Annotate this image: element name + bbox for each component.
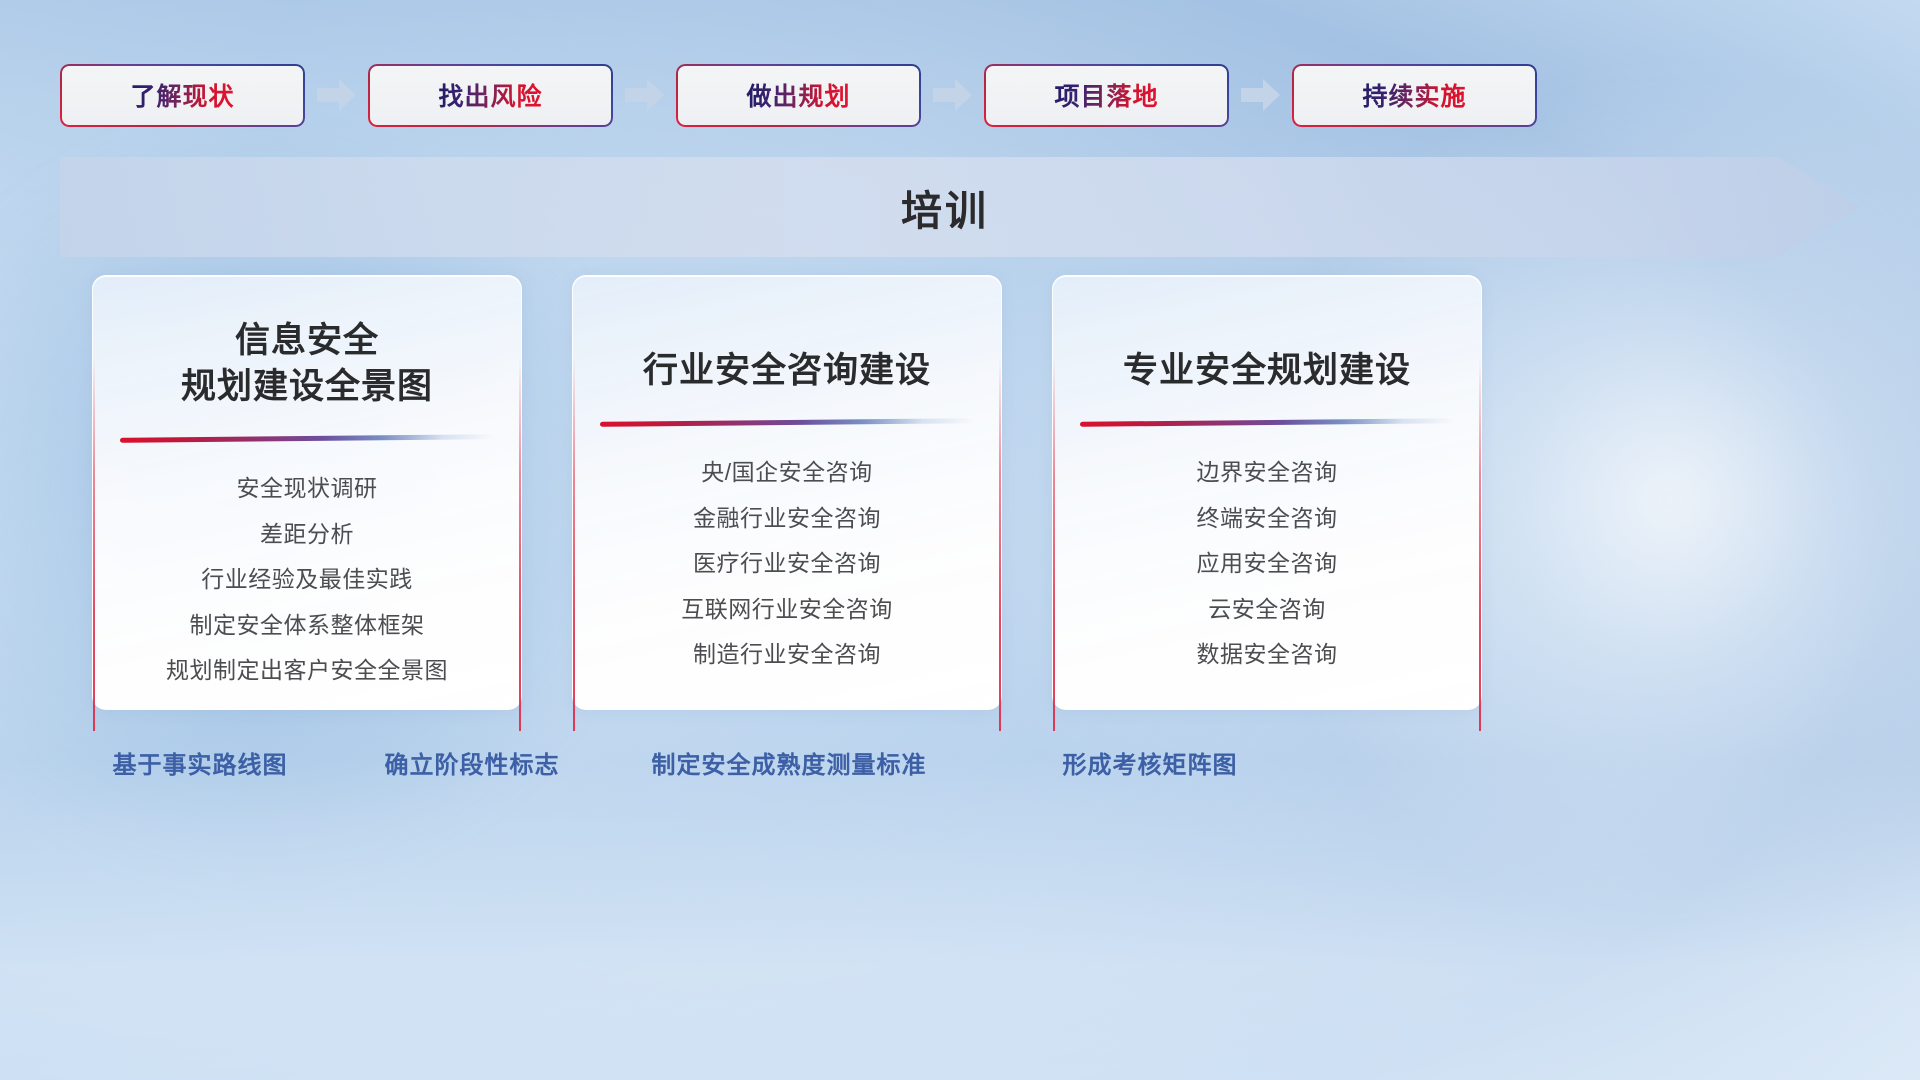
step-box-1[interactable]: 了解现状 <box>60 64 305 127</box>
footer-label-3: 制定安全成熟度测量标准 <box>652 745 927 780</box>
list-item: 数据安全咨询 <box>1197 637 1338 672</box>
list-item: 云安全咨询 <box>1208 592 1326 627</box>
list-item: 医疗行业安全咨询 <box>693 546 881 581</box>
card-title-2: 行业安全咨询建设 <box>643 348 931 394</box>
step-label-3: 做出规划 <box>746 77 850 113</box>
card-list-1: 安全现状调研 差距分析 行业经验及最佳实践 制定安全体系整体框架 规划制定出客户… <box>166 471 448 688</box>
list-item: 互联网行业安全咨询 <box>681 592 893 627</box>
list-item: 制造行业安全咨询 <box>693 637 881 672</box>
footer-label-4: 形成考核矩阵图 <box>1063 745 1238 780</box>
card-professional-security-planning[interactable]: 专业安全规划建设 边界安全咨询 终端安全咨询 应用安全咨询 云安全咨询 数据安全… <box>1052 275 1482 710</box>
card-industry-security-consulting[interactable]: 行业安全咨询建设 央/国企安全咨询 金融行业安全咨询 医疗行业安全咨询 互联网行… <box>572 275 1002 710</box>
card-list-2: 央/国企安全咨询 金融行业安全咨询 医疗行业安全咨询 互联网行业安全咨询 制造行… <box>681 455 893 672</box>
banner-title: 培训 <box>60 157 1860 257</box>
step-label-2: 找出风险 <box>438 77 542 113</box>
list-item: 制定安全体系整体框架 <box>190 608 425 643</box>
slide-canvas: 了解现状 找出风险 做出规划 项目落地 <box>0 0 1920 1080</box>
step-box-4[interactable]: 项目落地 <box>984 64 1229 127</box>
card-divider-1 <box>120 435 495 444</box>
step-arrow-icon-2 <box>623 75 666 115</box>
list-item: 行业经验及最佳实践 <box>201 562 413 597</box>
card-title-3: 专业安全规划建设 <box>1123 348 1411 394</box>
list-item: 应用安全咨询 <box>1197 546 1338 581</box>
list-item: 差距分析 <box>260 517 354 552</box>
list-item: 终端安全咨询 <box>1197 501 1338 536</box>
card-information-security-blueprint[interactable]: 信息安全 规划建设全景图 安全现状调研 差距分析 行业经验及最佳实践 制定安全体… <box>92 275 522 710</box>
process-step-row: 了解现状 找出风险 做出规划 项目落地 <box>60 62 1860 128</box>
card-divider-2 <box>600 418 975 427</box>
step-arrow-icon-4 <box>1239 75 1282 115</box>
list-item: 央/国企安全咨询 <box>701 455 872 490</box>
background-glow-bottom <box>0 760 1920 1080</box>
card-title-1: 信息安全 规划建设全景图 <box>181 318 433 410</box>
step-label-4: 项目落地 <box>1054 77 1158 113</box>
footer-label-2: 确立阶段性标志 <box>385 745 560 780</box>
list-item: 规划制定出客户安全全景图 <box>166 653 448 688</box>
card-divider-3 <box>1080 418 1455 427</box>
card-group: 信息安全 规划建设全景图 安全现状调研 差距分析 行业经验及最佳实践 制定安全体… <box>92 275 1832 715</box>
training-banner: 培训 <box>60 157 1860 257</box>
step-box-5[interactable]: 持续实施 <box>1292 64 1537 127</box>
list-item: 金融行业安全咨询 <box>693 501 881 536</box>
step-arrow-icon-1 <box>315 75 358 115</box>
step-box-2[interactable]: 找出风险 <box>368 64 613 127</box>
step-box-3[interactable]: 做出规划 <box>676 64 921 127</box>
step-arrow-icon-3 <box>931 75 974 115</box>
card-list-3: 边界安全咨询 终端安全咨询 应用安全咨询 云安全咨询 数据安全咨询 <box>1197 455 1338 672</box>
step-label-5: 持续实施 <box>1362 77 1466 113</box>
step-label-1: 了解现状 <box>130 77 234 113</box>
footer-label-1: 基于事实路线图 <box>113 745 288 780</box>
list-item: 边界安全咨询 <box>1197 455 1338 490</box>
list-item: 安全现状调研 <box>237 471 378 506</box>
footer-label-row: 基于事实路线图 确立阶段性标志 制定安全成熟度测量标准 形成考核矩阵图 <box>0 745 1920 789</box>
